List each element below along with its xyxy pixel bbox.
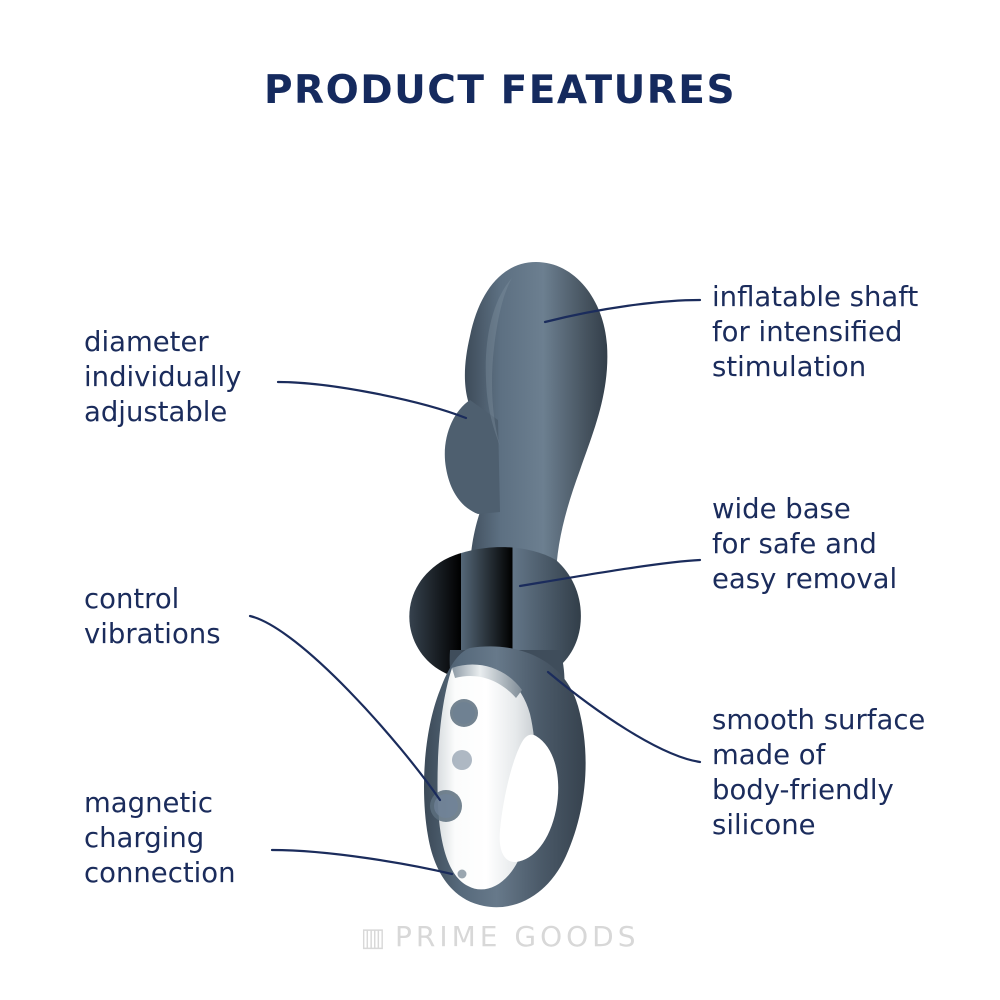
callout-control-vibrations: control vibrations [84,582,221,652]
leader-inflatable-shaft [545,300,700,322]
callout-diameter-adjustable: diameter individually adjustable [84,325,241,430]
control-buttons [430,699,478,822]
page-title: PRODUCT FEATURES [0,68,1000,113]
leader-lines [250,300,700,874]
leader-diameter [278,382,466,418]
callout-inflatable-shaft: inflatable shaft for intensified stimula… [712,280,918,385]
callout-wide-base: wide base for safe and easy removal [712,492,897,597]
callout-smooth-surface: smooth surface made of body-friendly sil… [712,703,925,843]
product-body [409,262,607,907]
logo-mark-icon: ▥ [360,923,385,953]
charging-contact [458,870,467,879]
diagram-canvas: PRODUCT FEATURES [0,0,1000,1000]
leader-wide-base [520,560,700,586]
leader-control-vibrations [250,616,440,800]
watermark: ▥PRIME GOODS [0,920,1000,953]
callout-magnetic-charging: magnetic charging connection [84,786,236,891]
leader-magnetic-charging [272,850,452,874]
watermark-text: PRIME GOODS [395,920,639,953]
leader-smooth-surface [548,672,700,762]
